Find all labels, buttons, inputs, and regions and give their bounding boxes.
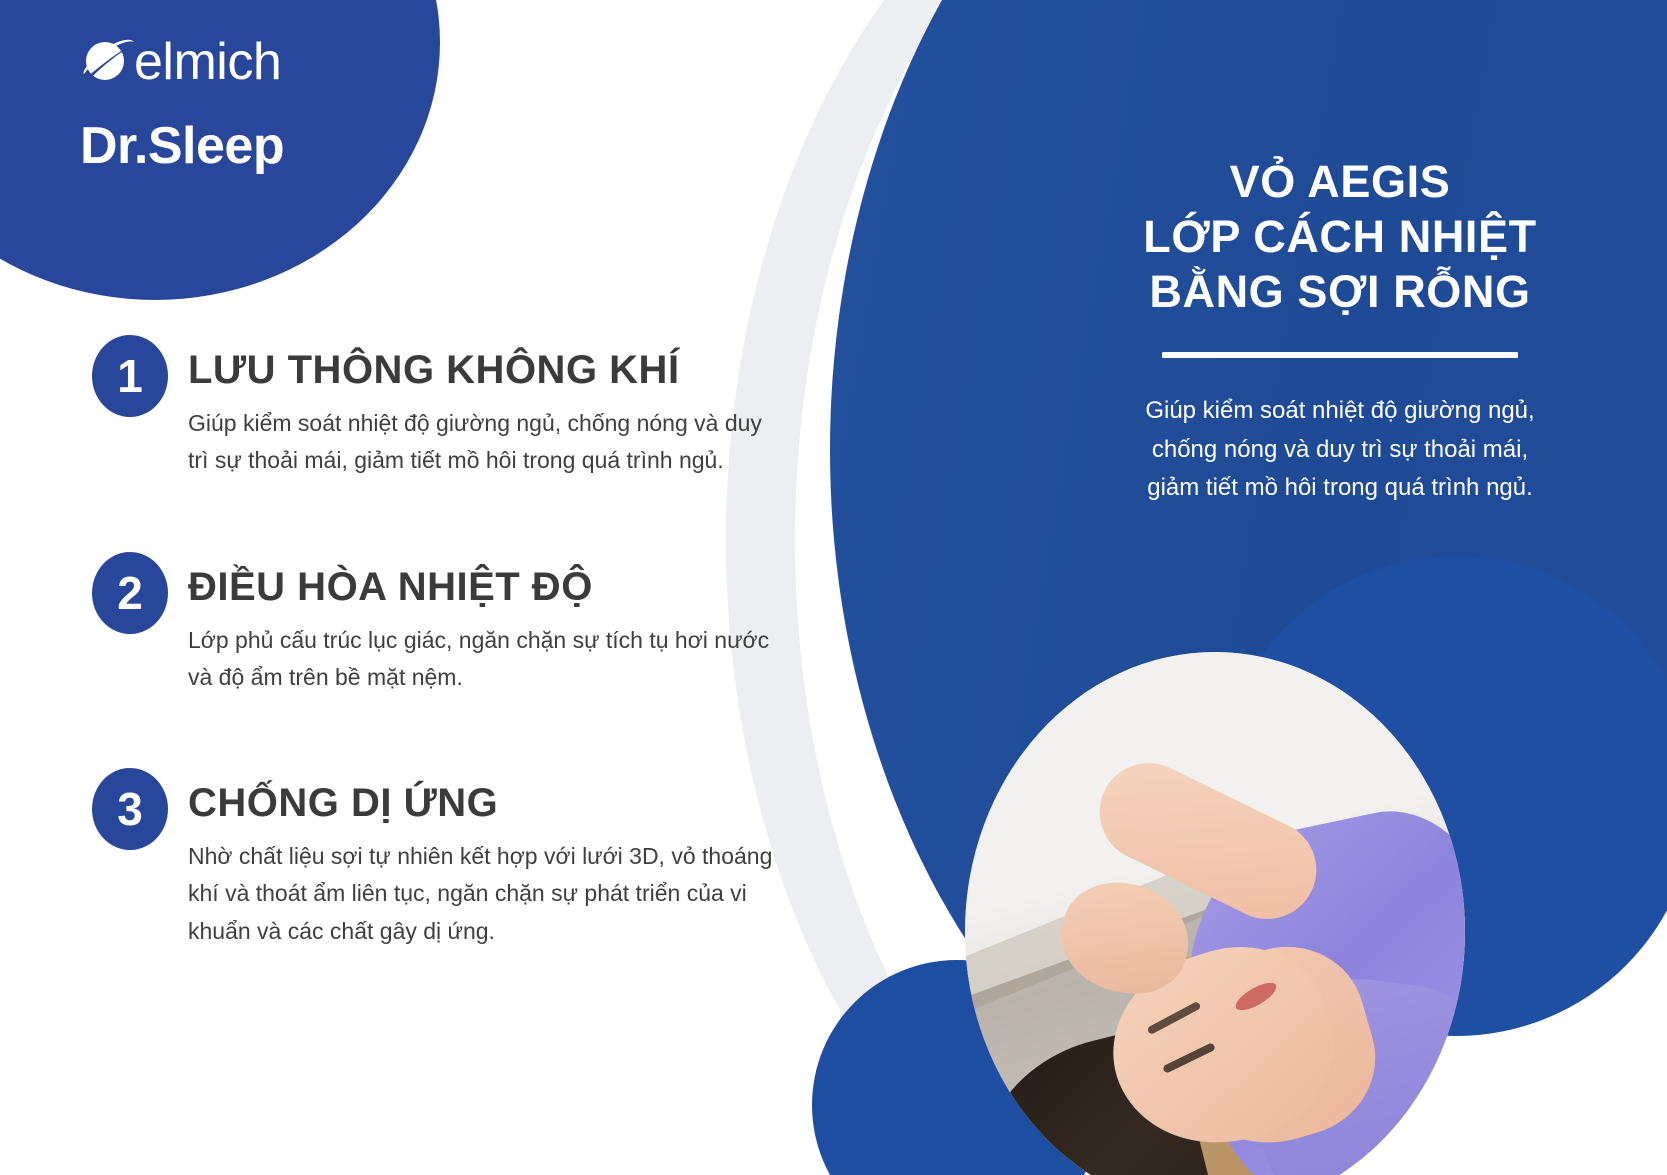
right-body-line-2: chống nóng và duy trì sự thoải mái, (1060, 431, 1620, 470)
feature-body: Giúp kiểm soát nhiệt độ giường ngủ, chốn… (188, 405, 788, 480)
planet-swirl-icon (80, 34, 136, 90)
brand-logo-row: elmich (80, 28, 284, 96)
right-body-line-3: giảm tiết mồ hôi trong quá trình ngủ. (1060, 469, 1620, 508)
feature-title: CHỐNG DỊ ỨNG (188, 768, 792, 824)
right-title-line-1: VỎ AEGIS (1060, 155, 1620, 210)
feature-title: ĐIỀU HÒA NHIỆT ĐỘ (188, 552, 792, 608)
infographic-canvas: elmich Dr.Sleep 1 LƯU THÔNG KHÔNG KHÍ Gi… (0, 0, 1667, 1175)
right-panel: VỎ AEGIS LỚP CÁCH NHIỆT BẰNG SỢI RỖNG Gi… (1060, 155, 1620, 508)
feature-list: 1 LƯU THÔNG KHÔNG KHÍ Giúp kiểm soát nhi… (92, 335, 792, 950)
brand-name: elmich (134, 36, 281, 88)
right-title-line-2: LỚP CÁCH NHIỆT (1060, 210, 1620, 265)
right-body-line-1: Giúp kiểm soát nhiệt độ giường ngủ, (1060, 392, 1620, 431)
feature-item: 2 ĐIỀU HÒA NHIỆT ĐỘ Lớp phủ cấu trúc lục… (92, 552, 792, 697)
feature-title: LƯU THÔNG KHÔNG KHÍ (188, 335, 792, 391)
feature-item: 3 CHỐNG DỊ ỨNG Nhờ chất liệu sợi tự nhiê… (92, 768, 792, 950)
feature-item: 1 LƯU THÔNG KHÔNG KHÍ Giúp kiểm soát nhi… (92, 335, 792, 480)
feature-number-badge: 1 (92, 335, 168, 417)
right-panel-body: Giúp kiểm soát nhiệt độ giường ngủ, chốn… (1060, 392, 1620, 509)
feature-body: Lớp phủ cấu trúc lục giác, ngăn chặn sự … (188, 622, 788, 697)
right-panel-title: VỎ AEGIS LỚP CÁCH NHIỆT BẰNG SỢI RỖNG (1060, 155, 1620, 320)
brand-sub-name: Dr.Sleep (80, 120, 284, 172)
feature-number-badge: 3 (92, 768, 168, 850)
feature-body: Nhờ chất liệu sợi tự nhiên kết hợp với l… (188, 838, 788, 950)
brand-block: elmich Dr.Sleep (80, 28, 284, 172)
right-title-line-3: BẰNG SỢI RỖNG (1060, 265, 1620, 320)
title-divider (1162, 352, 1518, 358)
woman-sleeping-on-bed-photo (965, 652, 1465, 1175)
feature-number-badge: 2 (92, 552, 168, 634)
